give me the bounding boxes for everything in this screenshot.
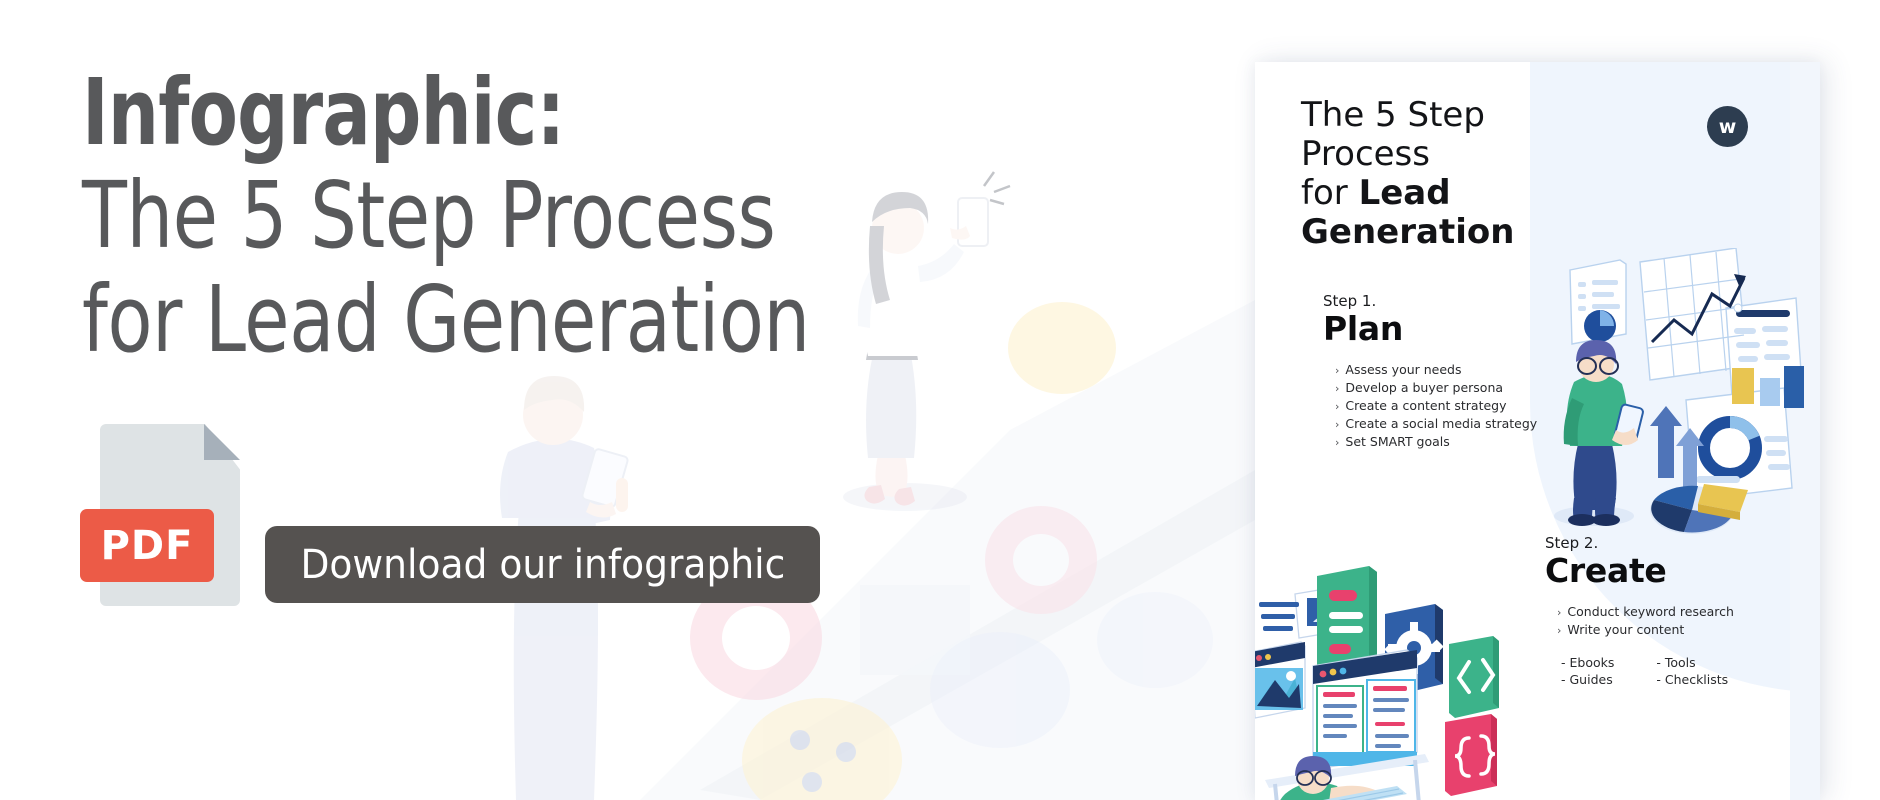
- chevron-right-icon: ›: [1335, 364, 1339, 377]
- list-item: - Guides: [1561, 671, 1614, 688]
- list-item: ›Create a content strategy: [1335, 397, 1537, 415]
- pdf-format-badge: PDF: [80, 509, 214, 582]
- step-2-bullet-1: Conduct keyword research: [1567, 604, 1734, 619]
- infographic-title: The 5 Step Process for Lead Generation: [1301, 96, 1561, 252]
- list-item: ›Assess your needs: [1335, 361, 1537, 379]
- chevron-right-icon: ›: [1557, 606, 1561, 619]
- step-2-sub-column-1: - Ebooks - Guides: [1561, 654, 1614, 688]
- soft-blob-shapes: [930, 592, 1213, 748]
- pdf-fold-corner-icon: [204, 424, 240, 460]
- list-item: ›Create a social media strategy: [1335, 415, 1537, 433]
- headline-line-1: Infographic:: [82, 62, 792, 164]
- chevron-right-icon: ›: [1335, 418, 1339, 431]
- infographic-preview-card[interactable]: The 5 Step Process for Lead Generation w: [1255, 62, 1820, 800]
- step-2-sub-columns: - Ebooks - Guides - Tools - Checklists: [1561, 654, 1734, 688]
- content-creation-desk-illustration: [1255, 556, 1499, 800]
- page-title: Infographic: The 5 Step Process for Lead…: [82, 62, 992, 372]
- analytics-dashboard-illustration: [1534, 248, 1814, 548]
- list-item: - Ebooks: [1561, 654, 1614, 671]
- step-1-label: Step 1.: [1323, 292, 1537, 310]
- step-1-bullet-list: ›Assess your needs ›Develop a buyer pers…: [1335, 361, 1537, 451]
- promo-banner: Infographic: The 5 Step Process for Lead…: [0, 0, 1880, 800]
- headline-line-2: The 5 Step Process: [82, 164, 810, 268]
- step-block-1: Step 1. Plan ›Assess your needs ›Develop…: [1323, 292, 1537, 451]
- step-block-2: Step 2. Create ›Conduct keyword research…: [1545, 534, 1734, 688]
- list-item: ›Develop a buyer persona: [1335, 379, 1537, 397]
- step-1-bullet-1: Assess your needs: [1345, 362, 1461, 377]
- list-item: ›Set SMART goals: [1335, 433, 1537, 451]
- list-item: - Tools: [1656, 654, 1728, 671]
- chevron-right-icon: ›: [1557, 624, 1561, 637]
- step-1-bullet-2: Develop a buyer persona: [1345, 380, 1503, 395]
- step-2-bullet-list: ›Conduct keyword research ›Write your co…: [1557, 603, 1734, 639]
- step-1-bullet-3: Create a content strategy: [1345, 398, 1506, 413]
- infographic-title-bold-1: Lead: [1359, 173, 1451, 213]
- chevron-right-icon: ›: [1335, 400, 1339, 413]
- download-infographic-button[interactable]: Download our infographic: [265, 526, 820, 603]
- chevron-right-icon: ›: [1335, 436, 1339, 449]
- headline-line-3: for Lead Generation: [82, 268, 810, 372]
- list-item: ›Conduct keyword research: [1557, 603, 1734, 621]
- list-item: ›Write your content: [1557, 621, 1734, 639]
- step-2-bullet-2: Write your content: [1567, 622, 1684, 637]
- brand-logo-w-icon: w: [1707, 106, 1748, 147]
- download-button-label: Download our infographic: [300, 542, 785, 588]
- brand-logo-letter: w: [1719, 116, 1737, 138]
- infographic-title-line-1: The 5 Step: [1301, 95, 1485, 135]
- infographic-title-bold-2: Generation: [1301, 212, 1514, 252]
- step-1-name: Plan: [1323, 311, 1537, 347]
- chevron-right-icon: ›: [1335, 382, 1339, 395]
- step-2-sub-column-2: - Tools - Checklists: [1656, 654, 1728, 688]
- infographic-title-line-2: Process: [1301, 134, 1430, 174]
- step-2-label: Step 2.: [1545, 534, 1734, 552]
- step-2-name: Create: [1545, 553, 1734, 589]
- step-1-bullet-4: Create a social media strategy: [1345, 416, 1537, 431]
- list-item: - Checklists: [1656, 671, 1728, 688]
- infographic-title-line-3: for: [1301, 173, 1359, 213]
- promo-left-pane: Infographic: The 5 Step Process for Lead…: [0, 0, 1255, 800]
- person-with-phone: [1554, 340, 1644, 526]
- pdf-badge-label: PDF: [101, 523, 194, 569]
- step-1-bullet-5: Set SMART goals: [1345, 434, 1449, 449]
